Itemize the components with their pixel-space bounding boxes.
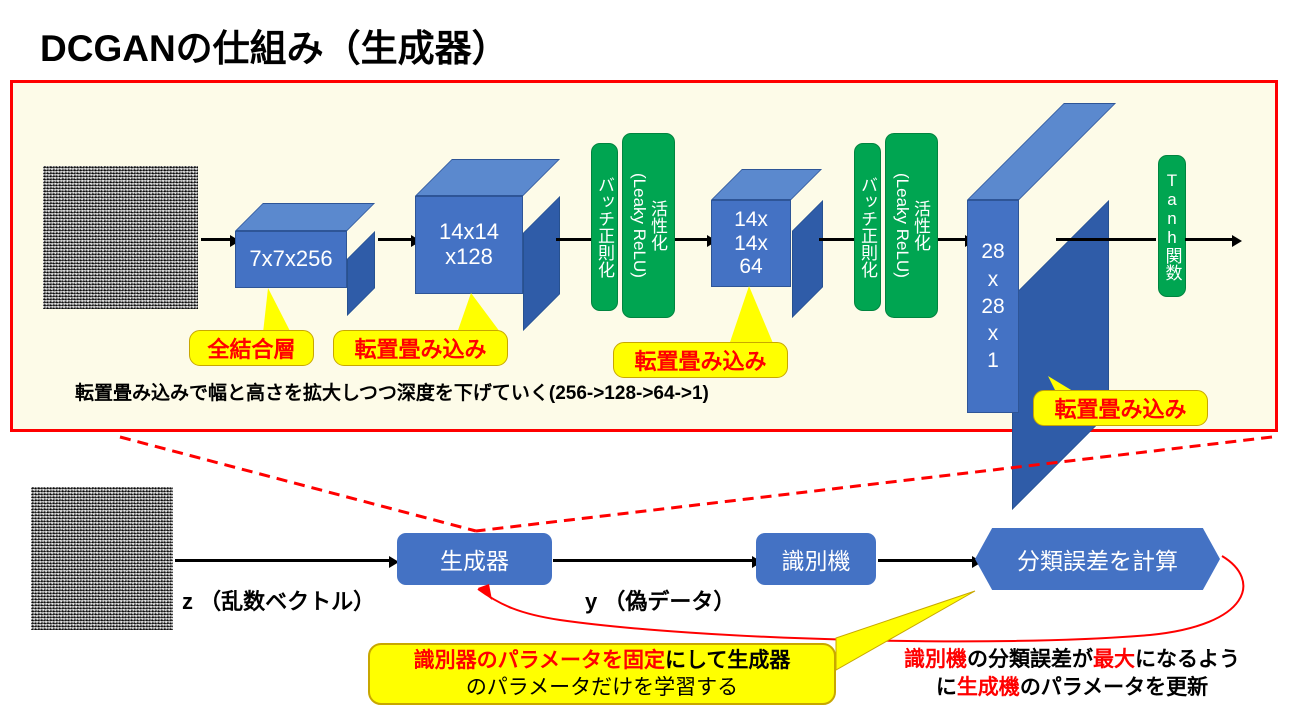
activation-1-sublabel: (Leaky ReLU) xyxy=(631,173,648,278)
layer-box-fully-connected: 7x7x256 xyxy=(235,203,375,288)
layer-activation-1: 活性化 (Leaky ReLU) xyxy=(622,133,675,318)
callout-deconv-3: 転置畳み込み xyxy=(1033,390,1208,426)
page-title: DCGANの仕組み（生成器） xyxy=(40,18,509,72)
generator-block[interactable]: 生成器 xyxy=(397,533,552,585)
update-text-mid2: になるよう xyxy=(1135,648,1240,671)
generator-note-text: 転置畳み込みで幅と高さを拡大しつつ深度を下げていく(256->128->64->… xyxy=(75,378,709,405)
line-deconv3-to-tanh xyxy=(1056,238,1156,241)
layer-box-deconv1: 14x14 x128 xyxy=(415,159,560,294)
update-text-line-2: に生成機のパラメータを更新 xyxy=(862,674,1282,702)
box-front-face: 7x7x256 xyxy=(235,231,347,288)
batchnorm-1-label: バッチ正則化 xyxy=(596,176,613,278)
box-front-face: 14x 14x 64 xyxy=(711,200,791,287)
update-text-line-1: 識別機の分類誤差が最大になるよう xyxy=(862,646,1282,674)
box-top-face xyxy=(711,169,822,200)
arrow-tanh-out xyxy=(1185,238,1233,241)
callout-fully-connected: 全結合層 xyxy=(189,330,314,366)
box-top-face xyxy=(415,159,560,196)
arrow-discriminator-to-loss xyxy=(878,559,973,562)
box-front-face: 28 x 28 x 1 xyxy=(967,200,1019,413)
update-text-tail: のパラメータを更新 xyxy=(1020,676,1208,699)
discriminator-block[interactable]: 識別機 xyxy=(756,533,876,585)
batchnorm-1-inner: バッチ正則化 xyxy=(592,144,617,310)
batchnorm-2-label: バッチ正則化 xyxy=(859,176,876,278)
layer-batchnorm-1: バッチ正則化 xyxy=(591,143,618,311)
arrow-z-to-generator xyxy=(175,559,390,562)
callout-deconv-1: 転置畳み込み xyxy=(333,330,508,366)
activation-2-sublabel: (Leaky ReLU) xyxy=(894,173,911,278)
update-text-max: 最大 xyxy=(1093,648,1135,671)
noise-input-image xyxy=(43,166,198,309)
update-text-generator: 生成機 xyxy=(957,676,1020,699)
zoom-dash-right xyxy=(476,437,1272,531)
tanh-inner: Tanh関数 xyxy=(1159,156,1185,296)
tanh-label: Tanh関数 xyxy=(1164,171,1181,281)
box-top-face xyxy=(235,203,375,231)
arrow-generator-to-discriminator xyxy=(553,559,753,562)
zoom-dash-left xyxy=(120,437,476,531)
pointer-deconv2 xyxy=(728,286,775,348)
loss-block[interactable]: 分類誤差を計算 xyxy=(975,528,1220,590)
box-side-face xyxy=(1012,200,1109,510)
feedback-arrowhead xyxy=(478,584,492,600)
box-front-face: 14x14 x128 xyxy=(415,196,523,294)
fake-data-label: y （偽データ） xyxy=(585,584,735,616)
callout-line-1: 識別器のパラメータを固定にして生成器 xyxy=(414,647,791,674)
callout-line-1-highlight: 識別器のパラメータを固定 xyxy=(414,649,665,672)
layer-batchnorm-2: バッチ正則化 xyxy=(854,143,881,311)
pointer-fully-connected xyxy=(263,288,291,333)
activation-1-label: 活性化 xyxy=(649,200,666,251)
update-text-discriminator: 識別機 xyxy=(904,648,967,671)
arrow-act2-to-deconv3 xyxy=(938,238,966,241)
activation-2-label: 活性化 xyxy=(912,200,929,251)
layer-box-deconv3: 28 x 28 x 1 xyxy=(967,103,1109,413)
layer-activation-2: 活性化 (Leaky ReLU) xyxy=(885,133,938,318)
callout-deconv-2: 転置畳み込み xyxy=(613,342,788,378)
callout-line-1-rest: にして生成器 xyxy=(665,649,790,672)
update-text-mid1: の分類誤差が xyxy=(967,648,1093,671)
update-text-ni: に xyxy=(936,676,957,699)
layer-tanh: Tanh関数 xyxy=(1158,155,1186,297)
activation-2-inner: 活性化 (Leaky ReLU) xyxy=(886,134,937,317)
activation-1-inner: 活性化 (Leaky ReLU) xyxy=(623,134,674,317)
arrow-noise-to-fc xyxy=(201,238,231,241)
box-top-face xyxy=(967,103,1116,200)
flow-noise-input-image xyxy=(31,487,173,630)
arrow-act1-to-deconv2 xyxy=(675,238,708,241)
layer-box-deconv2: 14x 14x 64 xyxy=(711,169,823,287)
line-deconv1-to-bn1 xyxy=(556,238,594,241)
arrow-fc-to-deconv1 xyxy=(378,238,412,241)
update-generator-text: 識別機の分類誤差が最大になるよう に生成機のパラメータを更新 xyxy=(862,646,1282,703)
box-side-face xyxy=(792,200,823,318)
line-deconv2-to-bn2 xyxy=(819,238,857,241)
box-side-face xyxy=(523,196,560,331)
z-input-label: z （乱数ベクトル） xyxy=(182,584,375,616)
fix-discriminator-callout: 識別器のパラメータを固定にして生成器 のパラメータだけを学習する xyxy=(368,643,836,705)
box-side-face xyxy=(347,231,375,316)
callout-line-2: のパラメータだけを学習する xyxy=(466,674,738,701)
batchnorm-2-inner: バッチ正則化 xyxy=(855,144,880,310)
